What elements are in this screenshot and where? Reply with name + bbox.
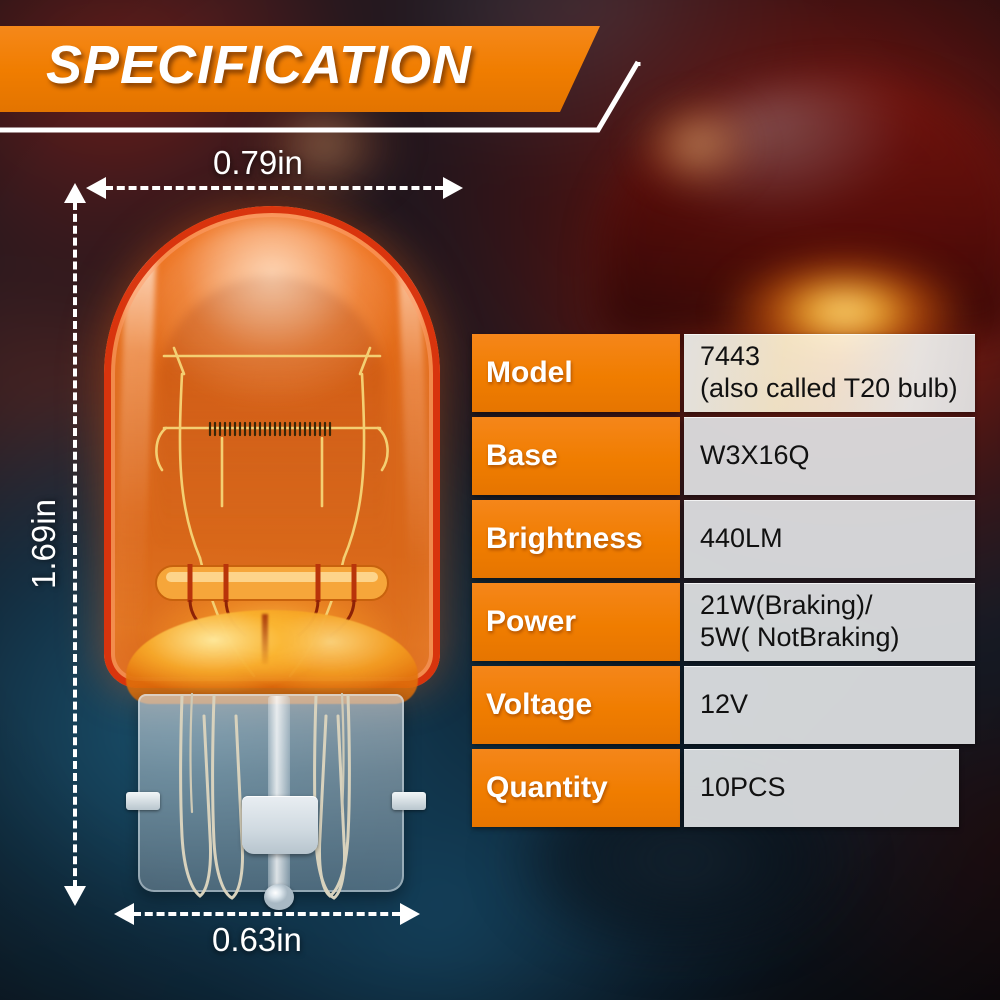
- page-title: SPECIFICATION: [46, 34, 472, 96]
- table-row: Quantity 10PCS: [472, 749, 975, 827]
- spec-value-power-line2: 5W( NotBraking): [700, 622, 975, 654]
- spec-value-quantity-line1: 10PCS: [700, 772, 959, 804]
- spec-value-power: 21W(Braking)/ 5W( NotBraking): [684, 583, 975, 661]
- spec-value-brightness: 440LM: [684, 500, 975, 578]
- table-row: Base W3X16Q: [472, 417, 975, 495]
- table-row: Brightness 440LM: [472, 500, 975, 578]
- spec-label-base: Base: [472, 417, 680, 495]
- stem-tip-bead: [264, 884, 294, 910]
- height-dimension-line: [73, 202, 77, 888]
- table-row: Power 21W(Braking)/ 5W( NotBraking): [472, 583, 975, 661]
- width-bottom-label: 0.63in: [212, 921, 302, 959]
- spec-value-base: W3X16Q: [684, 417, 975, 495]
- table-row: Model 7443 (also called T20 bulb): [472, 334, 975, 412]
- header-banner: SPECIFICATION: [0, 26, 660, 136]
- spec-value-brightness-line1: 440LM: [700, 523, 975, 555]
- spec-value-voltage-line1: 12V: [700, 689, 975, 721]
- spec-value-base-line1: W3X16Q: [700, 440, 975, 472]
- spec-value-quantity: 10PCS: [684, 749, 959, 827]
- width-arrow-left-icon: [86, 177, 106, 199]
- width-arrow-right-icon: [443, 177, 463, 199]
- specification-infographic: SPECIFICATION: [0, 0, 1000, 1000]
- height-arrow-up-icon: [64, 183, 86, 203]
- spec-value-model: 7443 (also called T20 bulb): [684, 334, 975, 412]
- width-dimension-line: [105, 186, 443, 190]
- width-top-label: 0.79in: [213, 144, 303, 182]
- base-arrow-right-icon: [400, 903, 420, 925]
- spec-value-voltage: 12V: [684, 666, 975, 744]
- spec-label-voltage: Voltage: [472, 666, 680, 744]
- spec-label-quantity: Quantity: [472, 749, 680, 827]
- spec-value-model-line2: (also called T20 bulb): [700, 373, 975, 405]
- specification-table: Model 7443 (also called T20 bulb) Base W…: [472, 334, 975, 827]
- spec-label-brightness: Brightness: [472, 500, 680, 578]
- spec-value-power-line1: 21W(Braking)/: [700, 590, 975, 622]
- base-width-dimension-line: [133, 912, 400, 916]
- bulb-illustration: [96, 196, 456, 906]
- table-row: Voltage 12V: [472, 666, 975, 744]
- spec-label-model: Model: [472, 334, 680, 412]
- base-arrow-left-icon: [114, 903, 134, 925]
- height-arrow-down-icon: [64, 886, 86, 906]
- spec-label-power: Power: [472, 583, 680, 661]
- wedge-center-plate: [242, 796, 318, 854]
- height-left-label: 1.69in: [25, 484, 63, 604]
- spec-value-model-line1: 7443: [700, 341, 975, 373]
